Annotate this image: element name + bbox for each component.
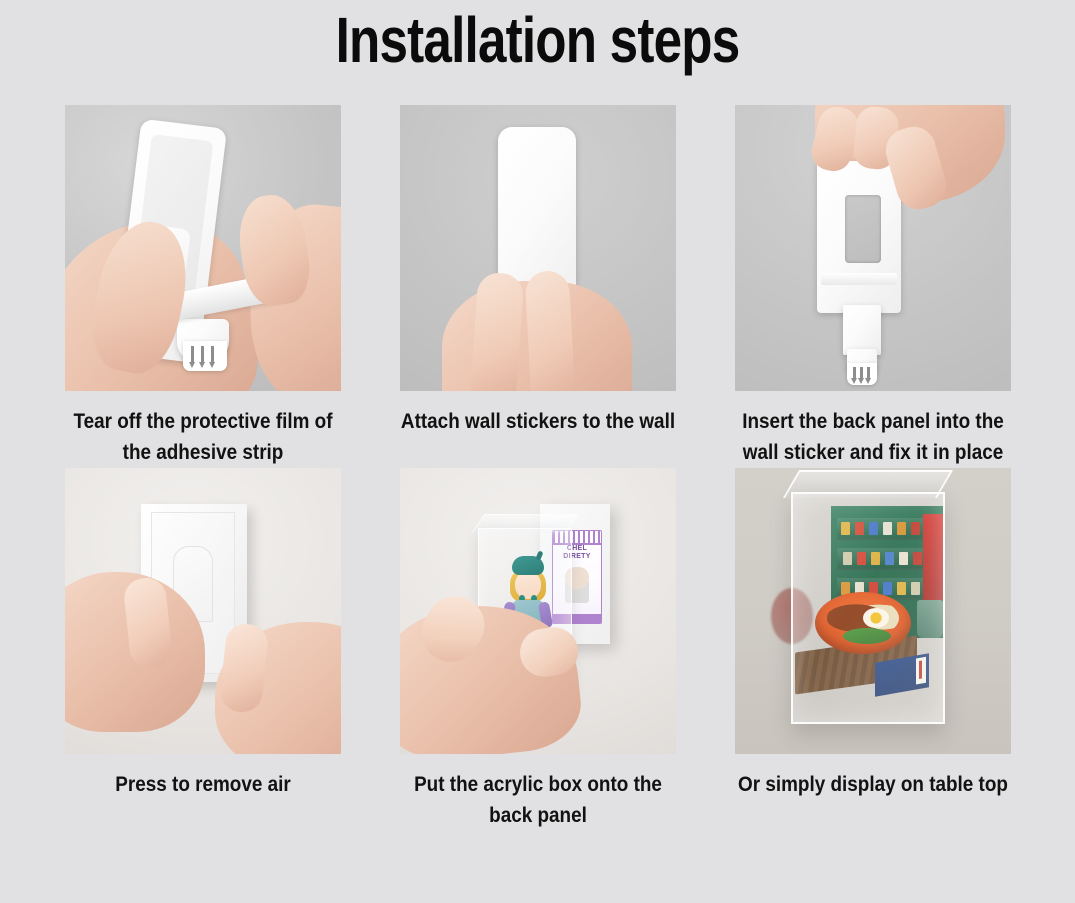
back-panel-stem xyxy=(843,305,881,355)
page-title: Installation steps xyxy=(108,8,968,72)
step-image-4-background xyxy=(65,468,341,754)
step-caption-3: Insert the back panel into the wall stic… xyxy=(734,406,1013,468)
middle-finger xyxy=(525,270,576,391)
figurine-beret xyxy=(512,556,544,575)
step-caption-4: Press to remove air xyxy=(63,769,342,800)
pull-tab-arrows-icon xyxy=(847,363,877,385)
step-card-5: CHEL DIRETY xyxy=(377,468,698,831)
index-finger xyxy=(470,272,525,391)
step-card-4: Press to remove air xyxy=(42,468,363,831)
figurine-face xyxy=(515,571,541,599)
back-panel-window xyxy=(845,195,881,263)
step-caption-6: Or simply display on table top xyxy=(734,769,1013,800)
step-image-3-background xyxy=(735,105,1011,391)
step-image-5-background: CHEL DIRETY xyxy=(400,468,676,754)
step-image-1 xyxy=(65,105,341,391)
step-image-4 xyxy=(65,468,341,754)
step-image-2-background xyxy=(400,105,676,391)
step-card-2: Attach wall stickers to the wall xyxy=(377,105,698,468)
step-image-6-background xyxy=(735,468,1011,754)
step-image-3 xyxy=(735,105,1011,391)
step-image-1-background xyxy=(65,105,341,391)
back-panel-ledge xyxy=(821,273,897,285)
step-image-5: CHEL DIRETY xyxy=(400,468,676,754)
step-card-6: Or simply display on table top xyxy=(713,468,1034,831)
installation-steps-grid: Tear off the protective film of the adhe… xyxy=(42,105,1034,831)
step-image-6 xyxy=(735,468,1011,754)
step-caption-1: Tear off the protective film of the adhe… xyxy=(63,406,342,468)
step-card-1: Tear off the protective film of the adhe… xyxy=(42,105,363,468)
step-card-3: Insert the back panel into the wall stic… xyxy=(713,105,1034,468)
step-caption-5: Put the acrylic box onto the back panel xyxy=(398,769,677,831)
step-image-2 xyxy=(400,105,676,391)
step-caption-2: Attach wall stickers to the wall xyxy=(398,406,677,437)
pull-tab-arrows-icon xyxy=(183,341,227,371)
acrylic-display-box xyxy=(791,492,945,724)
